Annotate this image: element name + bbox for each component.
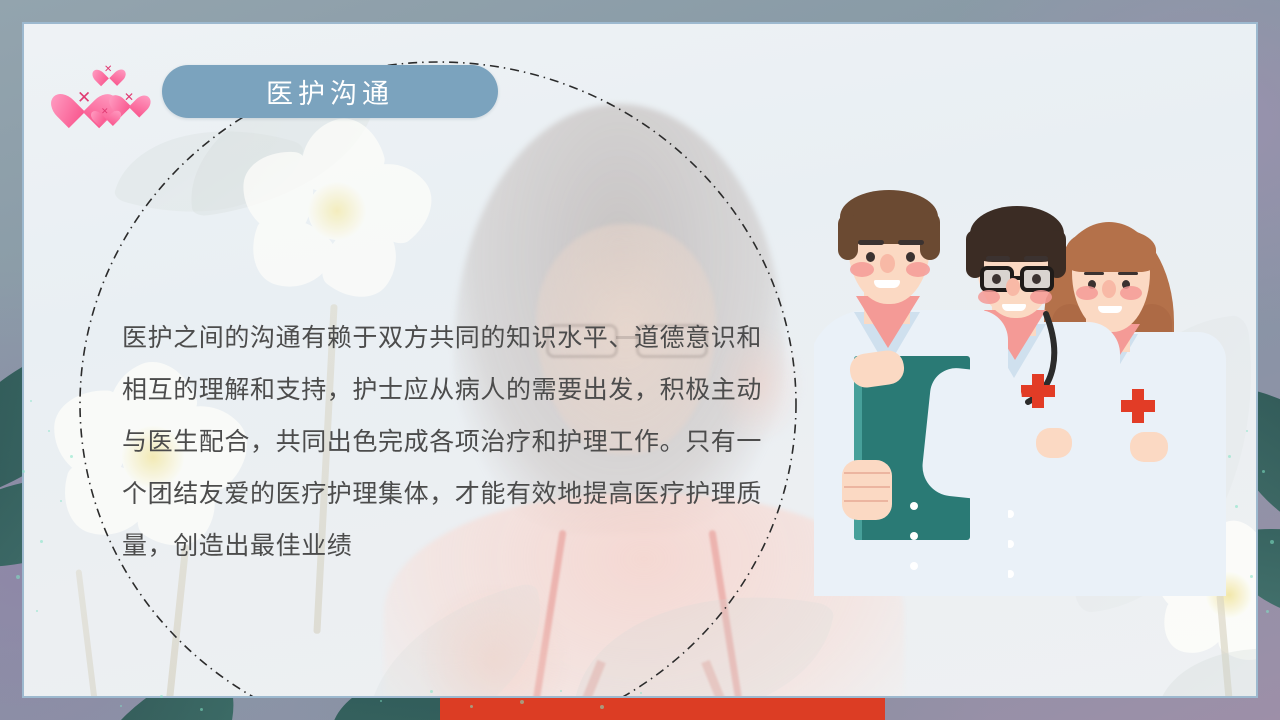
body-paragraph-text: 医护之间的沟通有赖于双方共同的知识水平、道德意识和相互的理解和支持，护士应从病人… [122,312,762,572]
slide-title-text: 医护沟通 [266,72,394,111]
sparkle-dot [16,575,20,579]
sparkle-dot [640,692,642,694]
red-bottom-bar [440,698,885,720]
heart-icon: ✕ [116,84,144,109]
sparkle-dot [120,705,122,707]
sparkle-dot [380,700,382,702]
sparkle-dot [600,705,604,709]
sparkle-dot [1246,430,1248,432]
heart-icon: ✕ [96,103,116,121]
red-cross-icon [1121,400,1155,412]
sparkle-dot [40,540,43,543]
sparkle-dot [48,430,50,432]
slide-title-pill[interactable]: 医护沟通 [162,65,498,118]
sparkle-dot [22,470,25,473]
pink-hearts-icon: ✕ ✕ ✕ ✕ [58,58,158,128]
sparkle-dot [160,695,163,698]
sparkle-dot [70,455,73,458]
flower-stem [1216,594,1234,698]
slide-canvas: 医护之间的沟通有赖于双方共同的知识水平、道德意识和相互的理解和支持，护士应从病人… [0,0,1280,720]
sparkle-dot [470,705,473,708]
sparkle-dot [1235,505,1238,508]
leaf-icon [1164,639,1258,698]
sparkle-dot [1228,455,1231,458]
sparkle-dot [1250,575,1253,578]
sparkle-dot [1266,610,1269,613]
sparkle-dot [30,400,32,402]
slide-card: 医护之间的沟通有赖于双方共同的知识水平、道德意识和相互的理解和支持，护士应从病人… [22,22,1258,698]
red-cross-icon [1021,385,1055,397]
sparkle-dot [1270,540,1274,544]
sparkle-dot [36,610,38,612]
sparkle-dot [60,500,62,502]
sparkle-dot [520,700,524,704]
sparkle-dot [560,690,562,692]
body-paragraph: 医护之间的沟通有赖于双方共同的知识水平、道德意识和相互的理解和支持，护士应从病人… [122,312,762,572]
sparkle-dot [430,690,433,693]
heart-icon: ✕ [98,60,120,80]
sparkle-dot [1262,470,1265,473]
three-medical-staff-illustration [814,184,1234,596]
sparkle-dot [200,708,203,711]
